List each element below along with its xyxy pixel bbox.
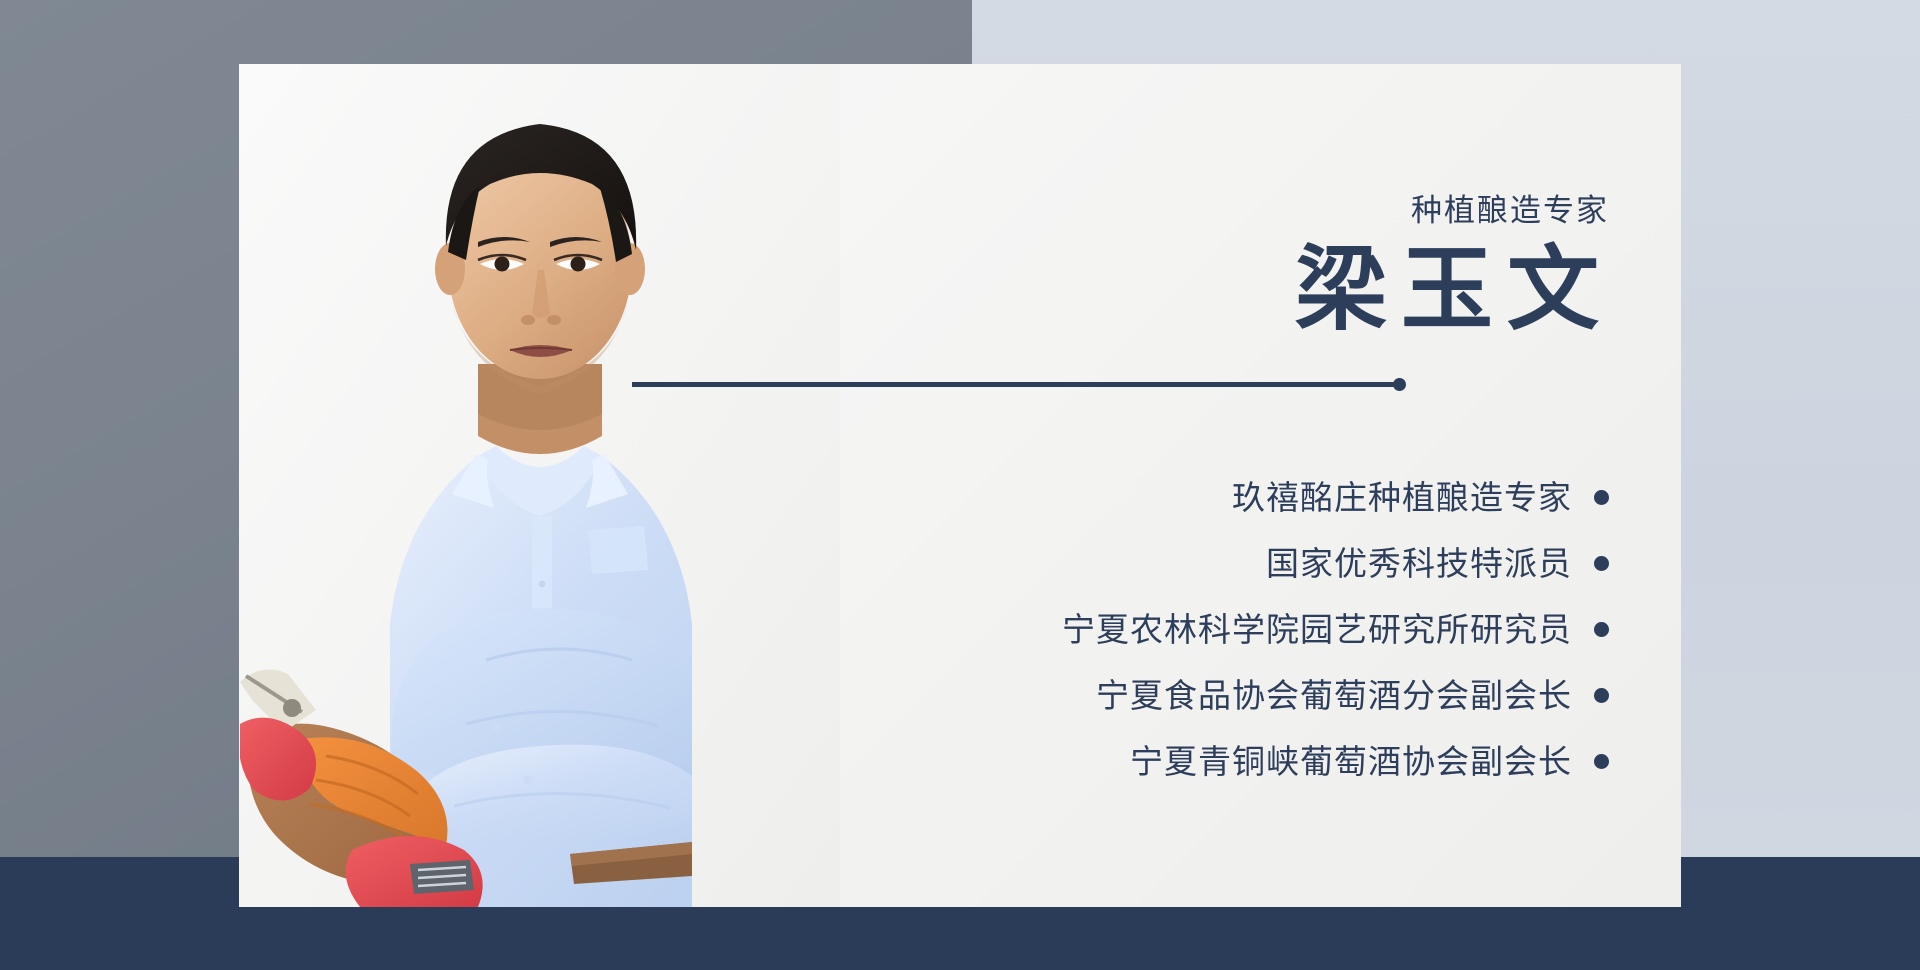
credential-label: 国家优秀科技特派员 <box>1266 547 1572 580</box>
profile-eyebrow: 种植酿造专家 <box>1411 195 1609 226</box>
credential-label: 宁夏农林科学院园艺研究所研究员 <box>1062 613 1572 646</box>
list-item: 宁夏食品协会葡萄酒分会副会长 <box>909 662 1609 728</box>
credential-label: 玖禧酩庄种植酿造专家 <box>1232 481 1572 514</box>
list-item: 宁夏青铜峡葡萄酒协会副会长 <box>909 728 1609 794</box>
bullet-dot-icon <box>1594 688 1609 703</box>
profile-name: 梁玉文 <box>1295 244 1613 336</box>
list-item: 玖禧酩庄种植酿造专家 <box>909 464 1609 530</box>
bullet-dot-icon <box>1594 622 1609 637</box>
credential-label: 宁夏食品协会葡萄酒分会副会长 <box>1096 679 1572 712</box>
list-item: 国家优秀科技特派员 <box>909 530 1609 596</box>
bullet-dot-icon <box>1594 490 1609 505</box>
bullet-dot-icon <box>1594 754 1609 769</box>
divider-rule <box>632 382 1394 387</box>
credentials-list: 玖禧酩庄种植酿造专家 国家优秀科技特派员 宁夏农林科学院园艺研究所研究员 宁夏食… <box>909 464 1609 794</box>
credential-label: 宁夏青铜峡葡萄酒协会副会长 <box>1130 745 1572 778</box>
divider-end-dot-icon <box>1393 378 1406 391</box>
profile-info: 种植酿造专家 梁玉文 玖禧酩庄种植酿造专家 国家优秀科技特派员 宁夏农林科学院园… <box>840 64 1681 907</box>
poster-stage: 种植酿造专家 梁玉文 玖禧酩庄种植酿造专家 国家优秀科技特派员 宁夏农林科学院园… <box>0 0 1920 970</box>
bullet-dot-icon <box>1594 556 1609 571</box>
background-navy-right-block <box>1682 857 1920 970</box>
list-item: 宁夏农林科学院园艺研究所研究员 <box>909 596 1609 662</box>
